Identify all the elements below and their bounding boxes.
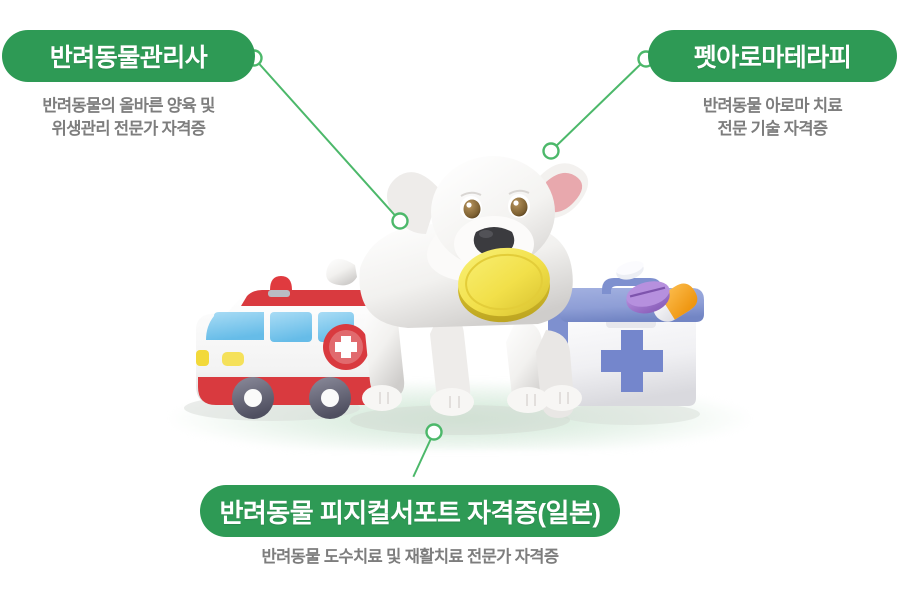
- badge-pet-aromatherapy-subtitle: 반려동물 아로마 치료 전문 기술 자격증: [648, 95, 897, 141]
- connector-node-scene-top-left: [393, 214, 408, 229]
- badge-physical-support-subtitle: 반려동물 도수치료 및 재활치료 전문가 자격증: [200, 546, 620, 569]
- connector-line-top-left: [254, 58, 400, 221]
- badge-pet-manager-subtitle: 반려동물의 올바른 양육 및 위생관리 전문가 자격증: [2, 95, 255, 141]
- badge-pet-manager[interactable]: 반려동물관리사: [2, 30, 255, 82]
- infographic-canvas: 반려동물관리사 반려동물의 올바른 양육 및 위생관리 전문가 자격증 펫아로마…: [0, 0, 900, 600]
- connector-node-scene-top-right: [544, 144, 559, 159]
- badge-physical-support[interactable]: 반려동물 피지컬서포트 자격증(일본): [200, 485, 620, 537]
- badge-pet-aromatherapy[interactable]: 펫아로마테라피: [648, 30, 897, 82]
- connector-line-top-right: [551, 59, 646, 151]
- connector-node-scene-bottom: [427, 425, 442, 440]
